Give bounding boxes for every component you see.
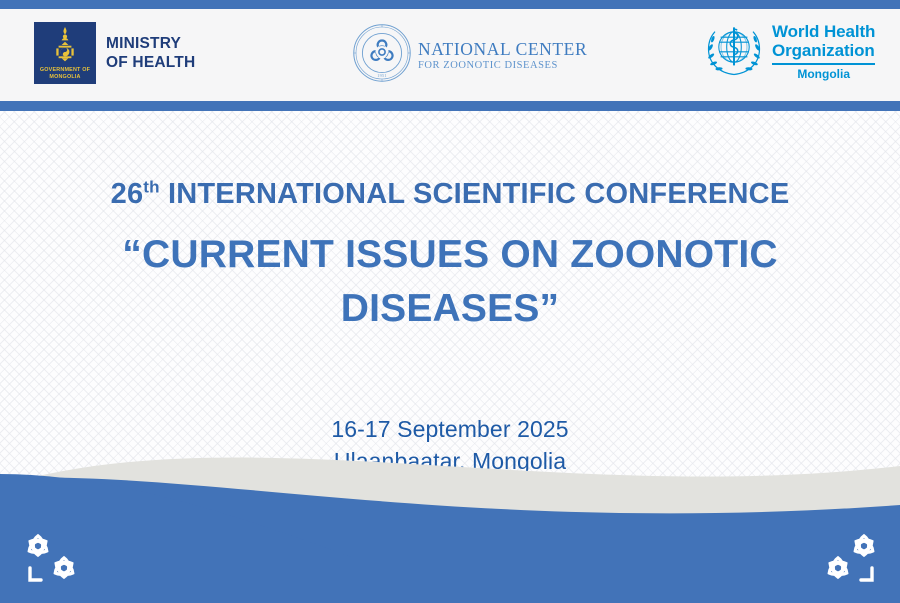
who-name-line1: World Health: [772, 22, 875, 41]
who-divider: [772, 63, 875, 65]
who-name-line2: Organization: [772, 41, 875, 60]
conference-number: 26: [111, 178, 144, 210]
conference-title: “CURRENT ISSUES ON ZOONOTIC DISEASES”: [60, 228, 840, 336]
biohazard-seal-icon: 1951: [352, 23, 412, 83]
crest-caption: GOVERNMENT OF MONGOLIA: [34, 67, 96, 81]
conference-ordinal-suffix: th: [143, 177, 159, 196]
soyombo-emblem-icon: [50, 27, 80, 71]
who-country-label: Mongolia: [772, 68, 875, 80]
top-accent-bar: [0, 0, 900, 9]
conference-location: Ulaanbaatar, Mongolia: [0, 445, 900, 477]
ministry-name-line2: OF HEALTH: [106, 53, 195, 72]
conference-edition-heading: 26th INTERNATIONAL SCIENTIFIC CONFERENCE: [0, 178, 900, 211]
ministry-of-health-logo: GOVERNMENT OF MONGOLIA MINISTRY OF HEALT…: [34, 22, 195, 84]
national-center-zoonotic-diseases-logo: 1951 NATIONAL CENTER FO: [352, 23, 587, 83]
who-mongolia-logo: World Health Organization Mongolia: [703, 22, 875, 80]
conference-meta: 16-17 September 2025 Ulaanbaatar, Mongol…: [0, 413, 900, 477]
svg-text:1951: 1951: [377, 73, 387, 78]
conference-title-slide: GOVERNMENT OF MONGOLIA MINISTRY OF HEALT…: [0, 0, 900, 603]
ministry-name-line1: MINISTRY: [106, 34, 195, 53]
national-center-name-line2: FOR ZOONOTIC DISEASES: [418, 61, 587, 72]
national-center-name-line1: NATIONAL CENTER: [418, 41, 587, 59]
conference-dates: 16-17 September 2025: [0, 413, 900, 445]
conference-title-line2: DISEASES”: [60, 282, 840, 336]
band-accent-bar: [0, 101, 900, 111]
who-name: World Health Organization Mongolia: [772, 22, 875, 80]
conference-title-line1: “CURRENT ISSUES ON ZOONOTIC: [60, 228, 840, 282]
ministry-of-health-name: MINISTRY OF HEALTH: [106, 34, 195, 72]
conference-heading-rest: INTERNATIONAL SCIENTIFIC CONFERENCE: [160, 178, 790, 210]
government-of-mongolia-crest: GOVERNMENT OF MONGOLIA: [34, 22, 96, 84]
who-globe-staff-icon: [703, 23, 765, 79]
mongolian-knot-ornament-left-icon: [14, 524, 90, 596]
crest-caption-line2: MONGOLIA: [34, 74, 96, 81]
crest-caption-line1: GOVERNMENT OF: [34, 67, 96, 74]
national-center-name: NATIONAL CENTER FOR ZOONOTIC DISEASES: [418, 35, 587, 72]
mongolian-knot-ornament-right-icon: [812, 524, 888, 596]
